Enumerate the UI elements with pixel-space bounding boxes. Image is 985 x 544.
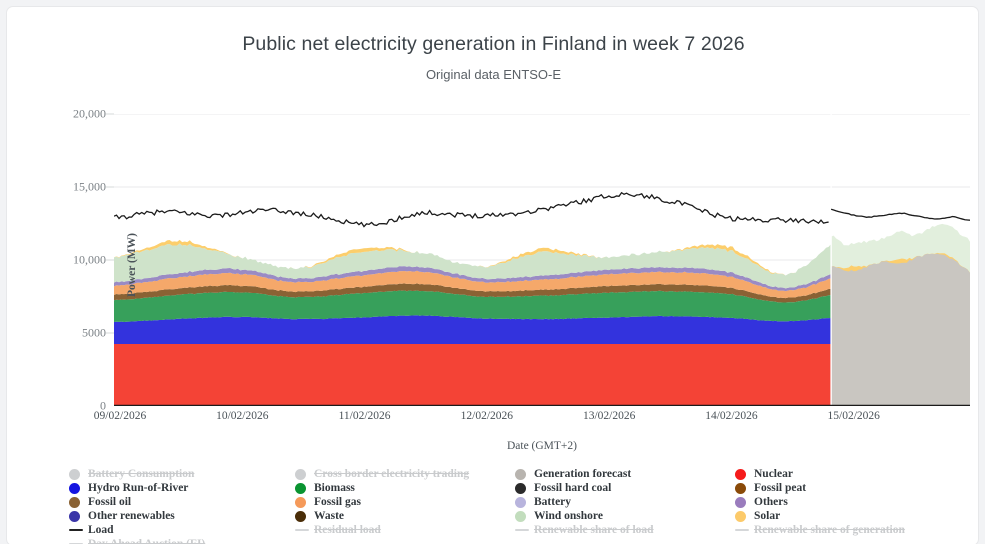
chart-card: Public net electricity generation in Fin… [6,6,979,544]
legend-item-label: Fossil peat [754,482,806,494]
legend-line-icon [515,529,529,532]
area-series-hydro-run-of-river [114,315,831,344]
legend-item-label: Renewable share of load [534,524,654,536]
legend-item-biomass[interactable]: Biomass [295,481,469,495]
legend-dot-icon [515,483,526,494]
legend-dot-icon [295,511,306,522]
legend-item-label: Nuclear [754,468,793,480]
legend-item-renewable-share-of-generation[interactable]: Renewable share of generation [735,523,905,537]
legend-line-icon [295,529,309,532]
legend-item-wind-onshore[interactable]: Wind onshore [515,509,654,523]
legend-item-solar[interactable]: Solar [735,509,905,523]
page-title: Public net electricity generation in Fin… [7,33,980,56]
area-series-nuclear [114,344,831,406]
plot-area: Power (MW) 0500010,00015,00020,000 09/02… [114,114,970,406]
y-tick-label: 10,000 [73,253,106,268]
legend-item-other-renewables[interactable]: Other renewables [69,509,205,523]
legend-item-renewable-share-of-load[interactable]: Renewable share of load [515,523,654,537]
legend-dot-icon [515,469,526,480]
legend-item-generation-forecast[interactable]: Generation forecast [515,467,654,481]
legend-item-label: Day Ahead Auction (FI) [88,538,205,544]
legend-item-label: Fossil hard coal [534,482,611,494]
legend-column: NuclearFossil peatOthersSolarRenewable s… [735,467,905,537]
legend-item-load[interactable]: Load [69,523,205,537]
legend-dot-icon [515,511,526,522]
legend-item-fossil-oil[interactable]: Fossil oil [69,495,205,509]
y-tick-label: 15,000 [73,180,106,195]
legend-item-nuclear[interactable]: Nuclear [735,467,905,481]
legend-item-label: Solar [754,510,780,522]
chart-legend: Battery ConsumptionHydro Run-of-RiverFos… [69,467,974,544]
legend-item-fossil-gas[interactable]: Fossil gas [295,495,469,509]
y-tick-label: 5000 [82,326,106,341]
legend-item-label: Battery Consumption [88,468,194,480]
x-axis-label: Date (GMT+2) [114,440,970,452]
legend-item-fossil-hard-coal[interactable]: Fossil hard coal [515,481,654,495]
legend-item-fossil-peat[interactable]: Fossil peat [735,481,905,495]
legend-line-icon [735,529,749,532]
legend-column: Cross border electricity tradingBiomassF… [295,467,469,537]
legend-dot-icon [69,469,80,480]
legend-line-icon [69,529,83,532]
legend-item-cross-border-electricity-trading[interactable]: Cross border electricity trading [295,467,469,481]
legend-item-label: Hydro Run-of-River [88,482,188,494]
x-tick-label: 15/02/2026 [828,410,880,422]
legend-dot-icon [735,497,746,508]
legend-item-residual-load[interactable]: Residual load [295,523,469,537]
legend-dot-icon [69,497,80,508]
x-tick-label: 13/02/2026 [583,410,635,422]
legend-item-label: Biomass [314,482,355,494]
legend-item-label: Load [88,524,114,536]
legend-item-label: Generation forecast [534,468,631,480]
legend-dot-icon [69,511,80,522]
legend-item-battery-consumption[interactable]: Battery Consumption [69,467,205,481]
y-tick-mark [106,260,114,261]
legend-item-label: Battery [534,496,571,508]
legend-item-label: Others [754,496,788,508]
legend-dot-icon [735,511,746,522]
chart-page: Public net electricity generation in Fin… [0,0,985,544]
y-tick-mark [106,114,114,115]
legend-dot-icon [735,483,746,494]
legend-column: Generation forecastFossil hard coalBatte… [515,467,654,537]
legend-item-waste[interactable]: Waste [295,509,469,523]
x-tick-label: 12/02/2026 [461,410,513,422]
x-tick-label: 09/02/2026 [94,410,146,422]
y-axis-label: Power (MW) [126,185,138,345]
legend-dot-icon [295,469,306,480]
x-tick-label: 11/02/2026 [339,410,391,422]
area-generation-forecast [831,253,970,406]
legend-item-label: Renewable share of generation [754,524,905,536]
legend-dot-icon [735,469,746,480]
chart-canvas [114,114,970,406]
chart-subtitle: Original data ENTSO-E [7,67,980,82]
legend-item-label: Other renewables [88,510,175,522]
legend-item-label: Waste [314,510,344,522]
legend-item-label: Fossil oil [88,496,131,508]
legend-item-label: Cross border electricity trading [314,468,469,480]
x-tick-label: 10/02/2026 [216,410,268,422]
legend-item-battery[interactable]: Battery [515,495,654,509]
y-tick-mark [106,333,114,334]
legend-item-day-ahead-auction-fi-[interactable]: Day Ahead Auction (FI) [69,537,205,544]
legend-item-label: Fossil gas [314,496,361,508]
legend-item-label: Wind onshore [534,510,603,522]
y-tick-label: 20,000 [73,107,106,122]
legend-item-label: Residual load [314,524,381,536]
legend-column: Battery ConsumptionHydro Run-of-RiverFos… [69,467,205,544]
x-tick-label: 14/02/2026 [705,410,757,422]
legend-dot-icon [515,497,526,508]
legend-item-others[interactable]: Others [735,495,905,509]
legend-dot-icon [69,483,80,494]
y-tick-mark [106,187,114,188]
legend-dot-icon [295,497,306,508]
legend-dot-icon [295,483,306,494]
legend-item-hydro-run-of-river[interactable]: Hydro Run-of-River [69,481,205,495]
